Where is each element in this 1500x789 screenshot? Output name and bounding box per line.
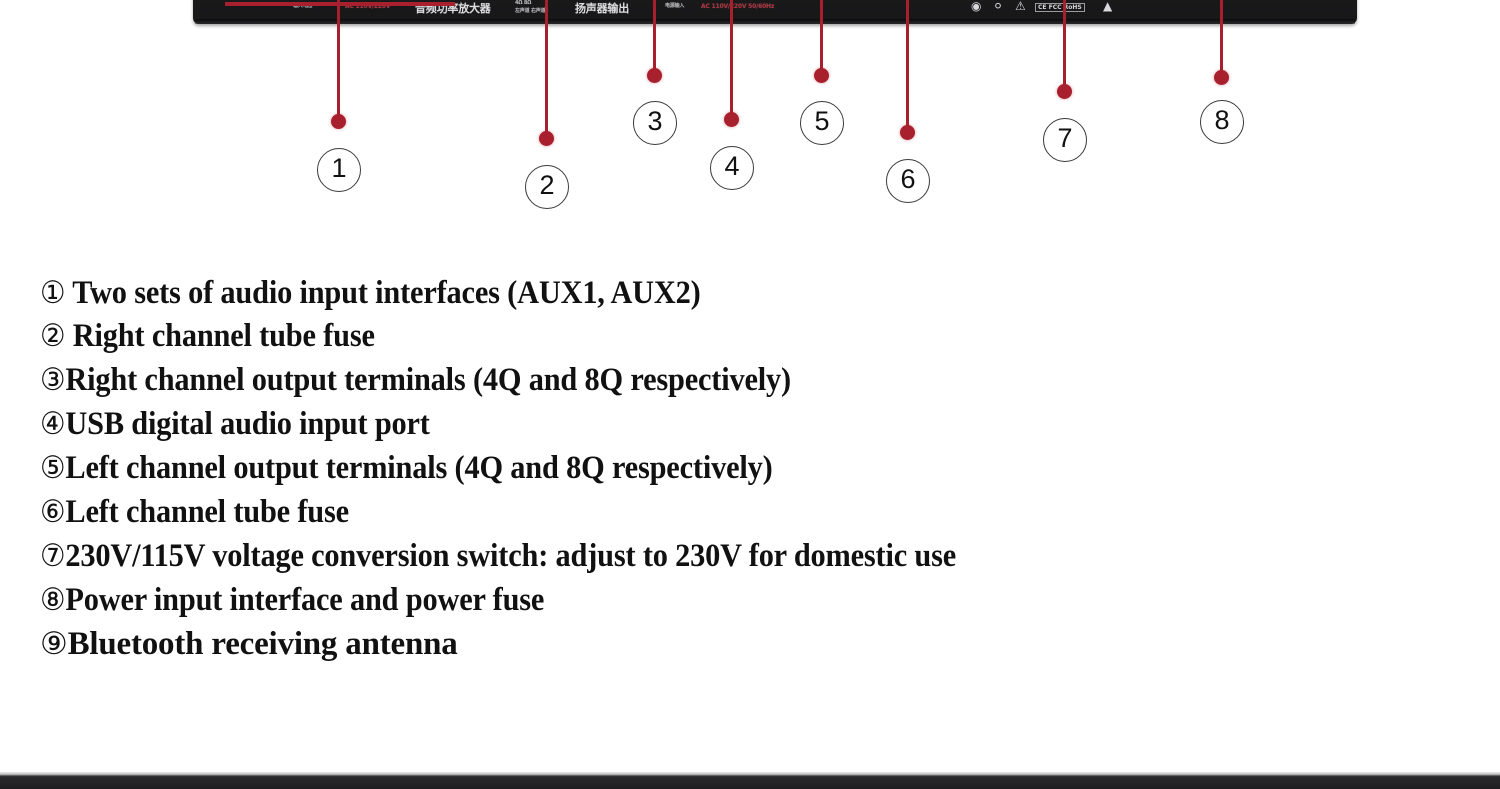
- legend-item-text: Right channel output terminals (4Q and 8…: [65, 362, 791, 398]
- callout-dot: [539, 131, 554, 146]
- legend-item: ③Right channel output terminals (4Q and …: [40, 358, 1346, 402]
- legend-item: ⑤Left channel output terminals (4Q and 8…: [40, 446, 1346, 490]
- callout-dot: [1057, 84, 1072, 99]
- crossed-bin-icon: ▲: [1103, 0, 1112, 13]
- callout-leader-line: [730, 0, 733, 118]
- legend-item-marker: ②: [40, 318, 65, 354]
- legend-item: ② Right channel tube fuse: [40, 315, 1346, 358]
- legend-item-text: USB digital audio input port: [65, 406, 429, 442]
- panel-label-ohm-marks: 左声道 右声道: [515, 7, 545, 14]
- legend-item-gap: [65, 318, 72, 354]
- legend-item-text: Left channel tube fuse: [65, 494, 349, 530]
- warning-triangle-icon: ⚠: [1015, 0, 1026, 13]
- panel-label-power-input: 电源输入: [665, 2, 684, 9]
- legend-item-text: Bluetooth receiving antenna: [68, 626, 458, 662]
- legend-item: ⑥Left channel tube fuse: [40, 490, 1346, 534]
- legend-item-text: 230V/115V voltage conversion switch: adj…: [65, 538, 956, 574]
- legend-item: ⑨Bluetooth receiving antenna: [40, 622, 1460, 666]
- callout-leader-line: [1063, 0, 1066, 90]
- legend-item-marker: ⑤: [40, 450, 65, 486]
- callout-dot: [900, 125, 915, 140]
- callout-number-badge-7: 7: [1043, 118, 1087, 162]
- fcc-mark-icon: ⚪: [993, 0, 1003, 13]
- callout-legend-list: ① Two sets of audio input interfaces (AU…: [40, 272, 1460, 666]
- legend-item-marker: ⑧: [40, 582, 65, 618]
- callout-number-badge-1: 1: [317, 148, 361, 192]
- red-annotation-bracket: [225, 2, 455, 6]
- callout-number-badge-8: 8: [1200, 100, 1244, 144]
- callout-number-badge-6: 6: [886, 159, 930, 203]
- callout-leader-line: [820, 0, 823, 74]
- callout-number-badge-2: 2: [525, 165, 569, 209]
- callout-number-badge-3: 3: [633, 101, 677, 145]
- legend-item: ⑧Power input interface and power fuse: [40, 578, 1346, 622]
- callout-number-badge-5: 5: [800, 101, 844, 145]
- weee-label-icon: CE FCC RoHS: [1035, 3, 1085, 12]
- legend-item-marker: ⑥: [40, 494, 65, 530]
- legend-item: ⑦230V/115V voltage conversion switch: ad…: [40, 534, 1346, 578]
- callout-dot: [814, 68, 829, 83]
- legend-item-marker: ④: [40, 406, 65, 442]
- legend-item-text: Two sets of audio input interfaces (AUX1…: [72, 275, 700, 311]
- callout-leader-line: [1220, 0, 1223, 76]
- legend-item-marker: ⑦: [40, 538, 65, 574]
- legend-item-marker: ①: [40, 275, 65, 311]
- legend-item: ① Two sets of audio input interfaces (AU…: [40, 272, 1346, 315]
- callout-leader-line: [906, 0, 909, 131]
- legend-item-text: Right channel tube fuse: [73, 318, 375, 354]
- panel-label-channel-out: 4Ω 8Ω: [515, 0, 531, 6]
- legend-item-text: Power input interface and power fuse: [65, 582, 544, 618]
- callout-number-badge-4: 4: [710, 146, 754, 190]
- ce-mark-icon: ◉: [971, 0, 981, 13]
- legend-item: ④USB digital audio input port: [40, 402, 1346, 446]
- legend-item-marker: ③: [40, 362, 65, 398]
- panel-label-output-terminals: 扬声器输出: [575, 0, 629, 16]
- callout-dot: [724, 112, 739, 127]
- callout-leader-line: [545, 0, 548, 137]
- next-image-top-edge-strip: [0, 772, 1500, 789]
- legend-item-marker: ⑨: [40, 626, 68, 662]
- callout-dot: [1214, 70, 1229, 85]
- callout-dot: [331, 114, 346, 129]
- panel-label-ac-range-right: AC 110V/220V 50/60Hz: [701, 3, 774, 10]
- legend-item-text: Left channel output terminals (4Q and 8Q…: [65, 450, 772, 486]
- panel-bottom-edge: [195, 19, 1355, 24]
- callout-leader-line: [337, 0, 340, 120]
- callout-leader-line: [653, 0, 656, 74]
- callout-dot: [647, 68, 662, 83]
